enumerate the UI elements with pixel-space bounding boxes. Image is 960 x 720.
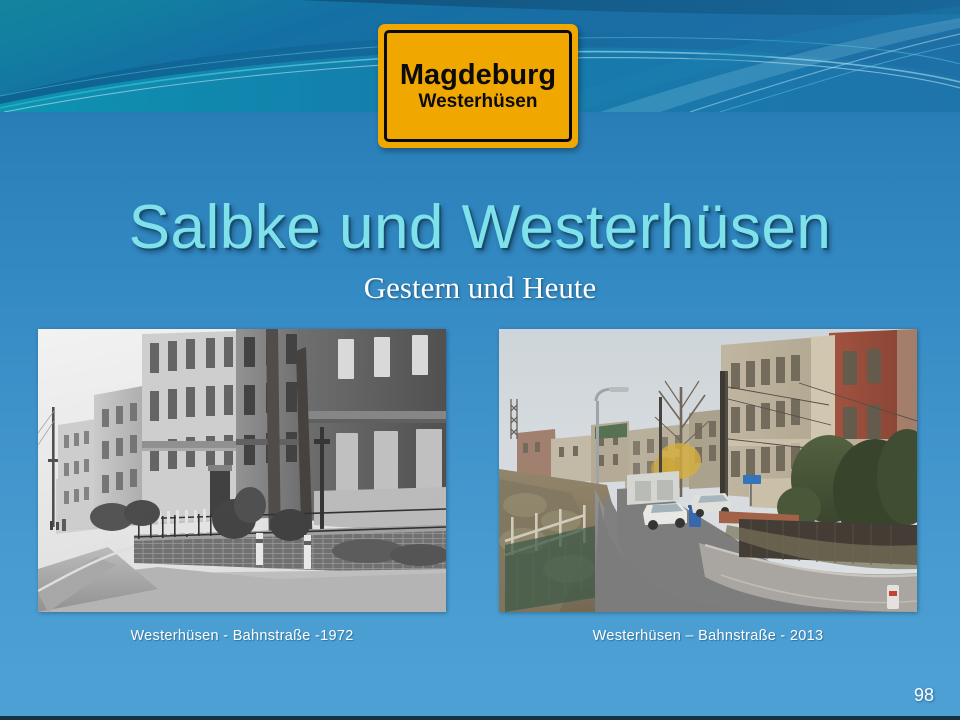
town-entrance-sign: Magdeburg Westerhüsen	[378, 24, 578, 148]
page-number: 98	[914, 685, 934, 706]
bottom-edge-line	[0, 716, 960, 720]
town-sign-inner-border: Magdeburg Westerhüsen	[384, 30, 572, 142]
caption-photo-2013: Westerhüsen – Bahnstraße - 2013	[499, 628, 917, 644]
sign-district-label: Westerhüsen	[419, 92, 538, 112]
sign-city-label: Magdeburg	[400, 60, 556, 90]
slide-canvas: Magdeburg Westerhüsen Salbke und Westerh…	[0, 0, 960, 720]
page-title: Salbke und Westerhüsen	[0, 192, 960, 263]
photo-1972	[38, 329, 446, 612]
photo-2013	[499, 329, 917, 612]
caption-photo-1972: Westerhüsen - Bahnstraße -1972	[38, 628, 446, 644]
page-subtitle: Gestern und Heute	[0, 270, 960, 306]
